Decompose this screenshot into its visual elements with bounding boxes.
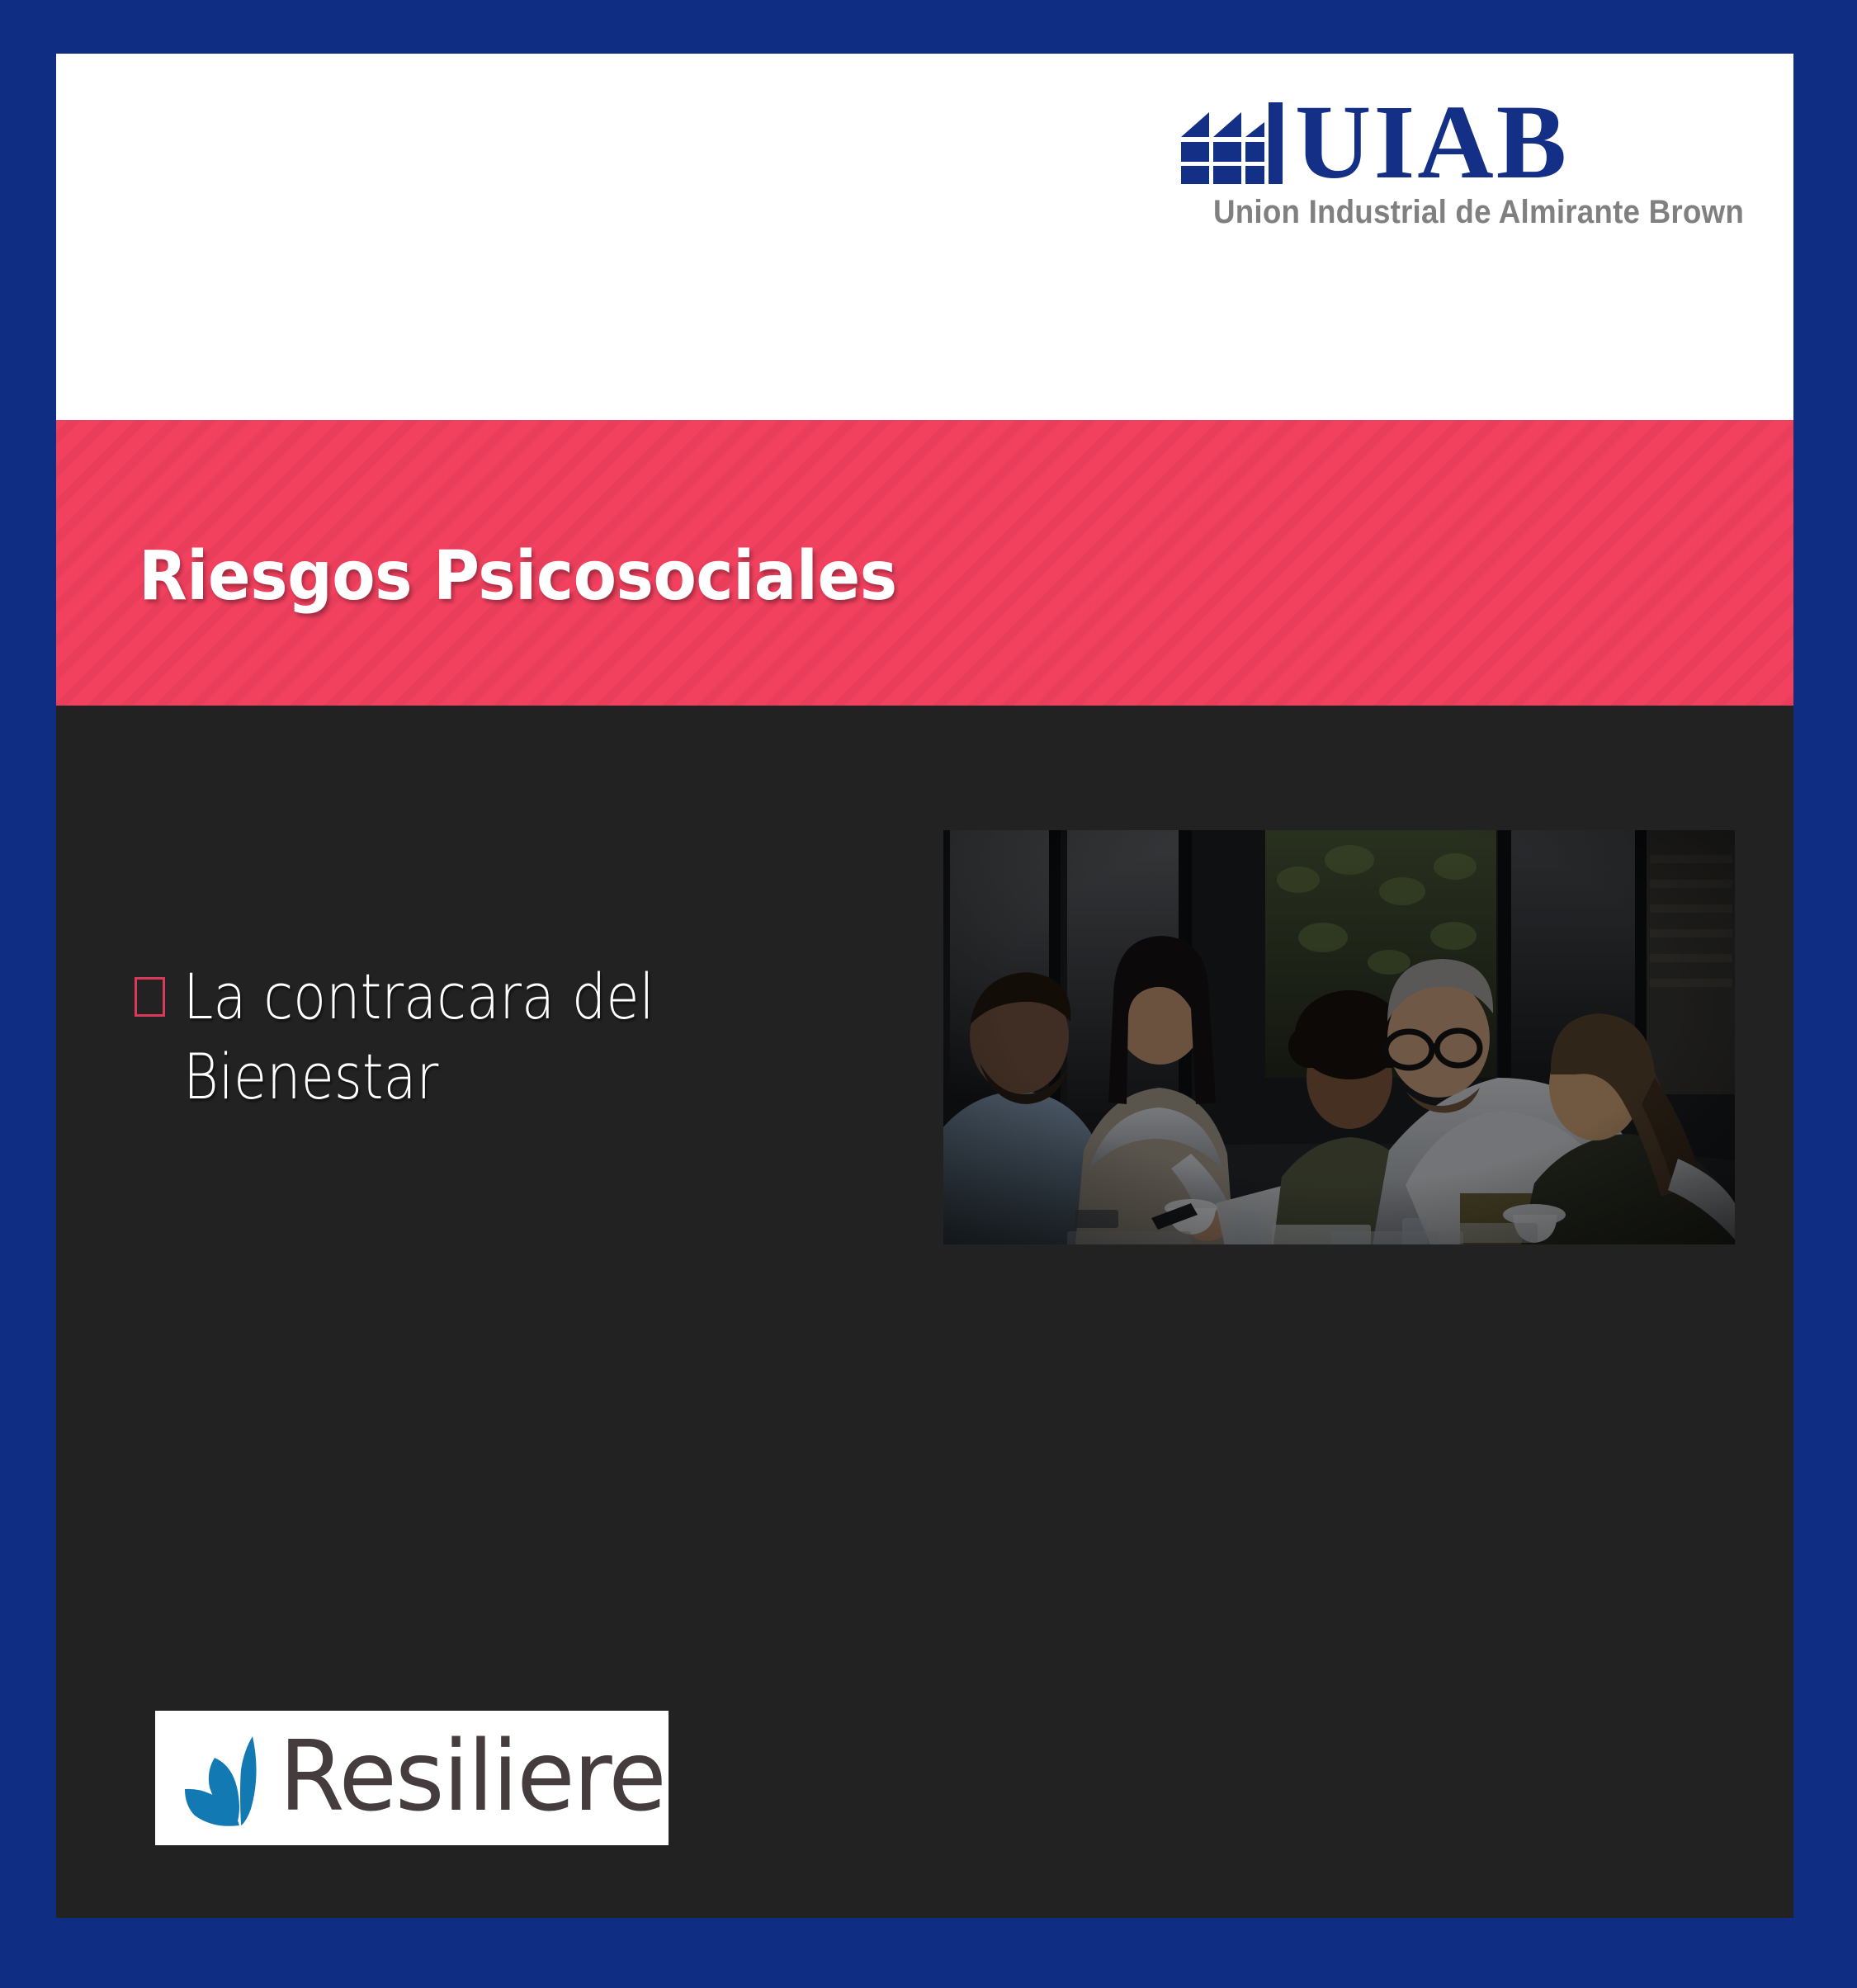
resiliere-wordmark: Resiliere	[279, 1727, 665, 1825]
slide-header-band: UIAB Union Industrial de Almirante Brown	[56, 54, 1793, 420]
uiab-wordmark: UIAB	[1295, 97, 1569, 187]
uiab-tagline: Union Industrial de Almirante Brown	[1212, 194, 1744, 231]
three-leaf-icon	[180, 1730, 272, 1827]
bullet-list-item: La contracara del Bienestar	[135, 957, 844, 1117]
office-meeting-photo	[943, 830, 1735, 1244]
resiliere-logo: Resiliere	[155, 1711, 669, 1845]
slide-frame: UIAB Union Industrial de Almirante Brown…	[0, 0, 1857, 1988]
page-title: Riesgos Psicosociales	[139, 537, 897, 616]
uiab-logo-top-row: UIAB	[1166, 95, 1744, 187]
factory-icon	[1166, 101, 1290, 187]
uiab-logo: UIAB Union Industrial de Almirante Brown	[1166, 95, 1744, 243]
slide-title-band: Riesgos Psicosociales	[56, 420, 1793, 706]
slide-body: La contracara del Bienestar	[56, 706, 1793, 1918]
hollow-box-bullet-icon	[135, 977, 165, 1017]
bullet-item-label: La contracara del Bienestar	[183, 957, 752, 1117]
office-meeting-illustration	[943, 830, 1735, 1244]
